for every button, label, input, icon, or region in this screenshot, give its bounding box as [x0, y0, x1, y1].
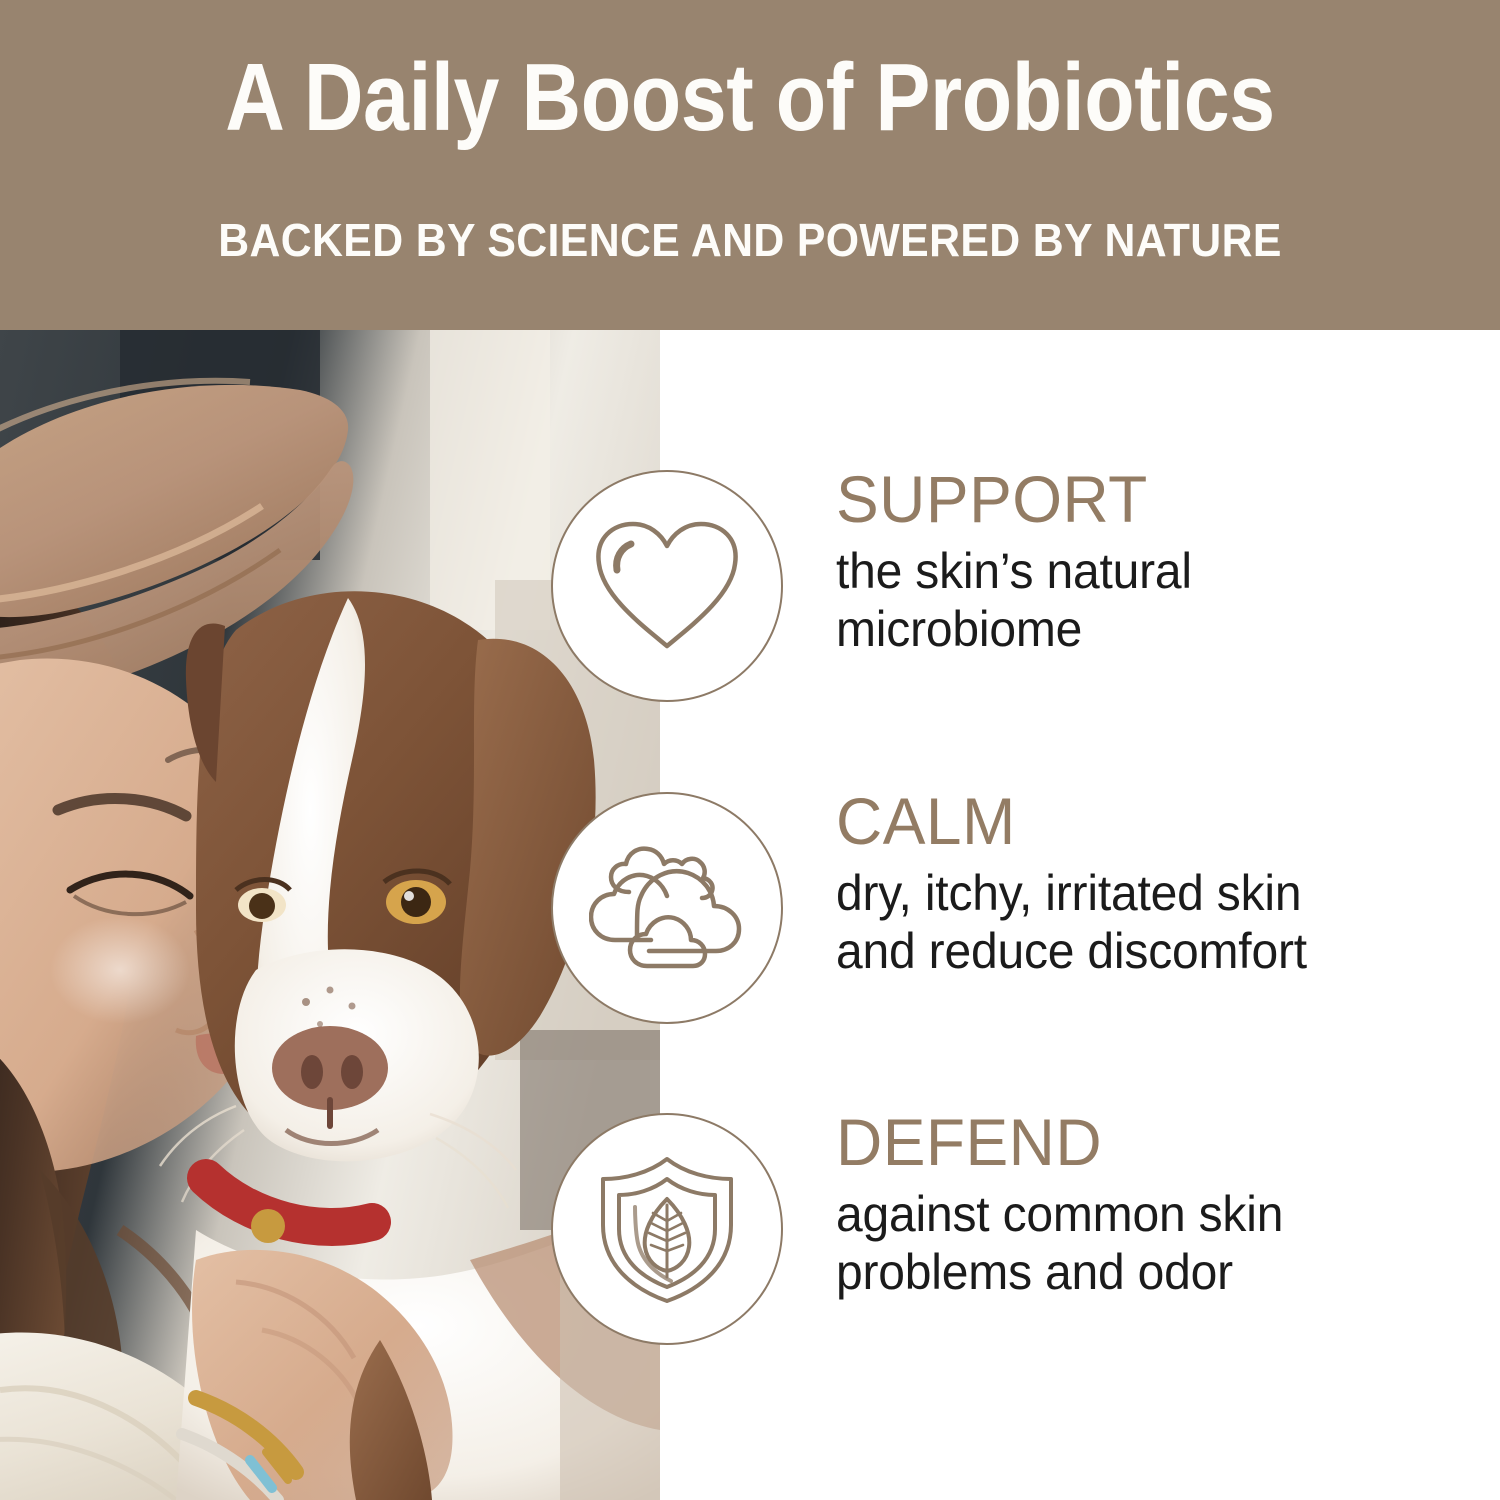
feature-defend-desc-line-1: against common skin [836, 1185, 1460, 1243]
feature-defend-title: DEFEND [836, 1105, 1467, 1179]
feature-calm-desc-line-1: dry, itchy, irritated skin [836, 864, 1460, 922]
page-subtitle: BACKED BY SCIENCE AND POWERED BY NATURE [53, 212, 1448, 268]
feature-support: SUPPORT the skin’s natural microbiome [0, 462, 1500, 722]
feature-defend-desc-line-2: problems and odor [836, 1243, 1460, 1301]
heart-icon-badge [551, 470, 783, 702]
shield-leaf-icon [593, 1153, 741, 1305]
feature-defend-text: DEFEND against common skin problems and … [836, 1105, 1486, 1301]
page-title: A Daily Boost of Probiotics [105, 46, 1395, 150]
feature-defend-desc: against common skin problems and odor [836, 1185, 1460, 1301]
feature-calm: CALM dry, itchy, irritated skin and redu… [0, 784, 1500, 1044]
feature-calm-title: CALM [836, 784, 1467, 858]
header-banner: A Daily Boost of Probiotics BACKED BY SC… [0, 0, 1500, 330]
feature-support-title: SUPPORT [836, 462, 1467, 536]
feature-support-desc: the skin’s natural microbiome [836, 542, 1460, 658]
feature-support-text: SUPPORT the skin’s natural microbiome [836, 462, 1486, 658]
clouds-icon [589, 844, 745, 972]
feature-defend: DEFEND against common skin problems and … [0, 1105, 1500, 1365]
feature-calm-text: CALM dry, itchy, irritated skin and redu… [836, 784, 1486, 980]
heart-icon [591, 516, 743, 656]
shield-leaf-icon-badge [551, 1113, 783, 1345]
clouds-icon-badge [551, 792, 783, 1024]
feature-support-desc-line-2: microbiome [836, 600, 1460, 658]
feature-calm-desc: dry, itchy, irritated skin and reduce di… [836, 864, 1460, 980]
feature-support-desc-line-1: the skin’s natural [836, 542, 1460, 600]
feature-calm-desc-line-2: and reduce discomfort [836, 922, 1460, 980]
